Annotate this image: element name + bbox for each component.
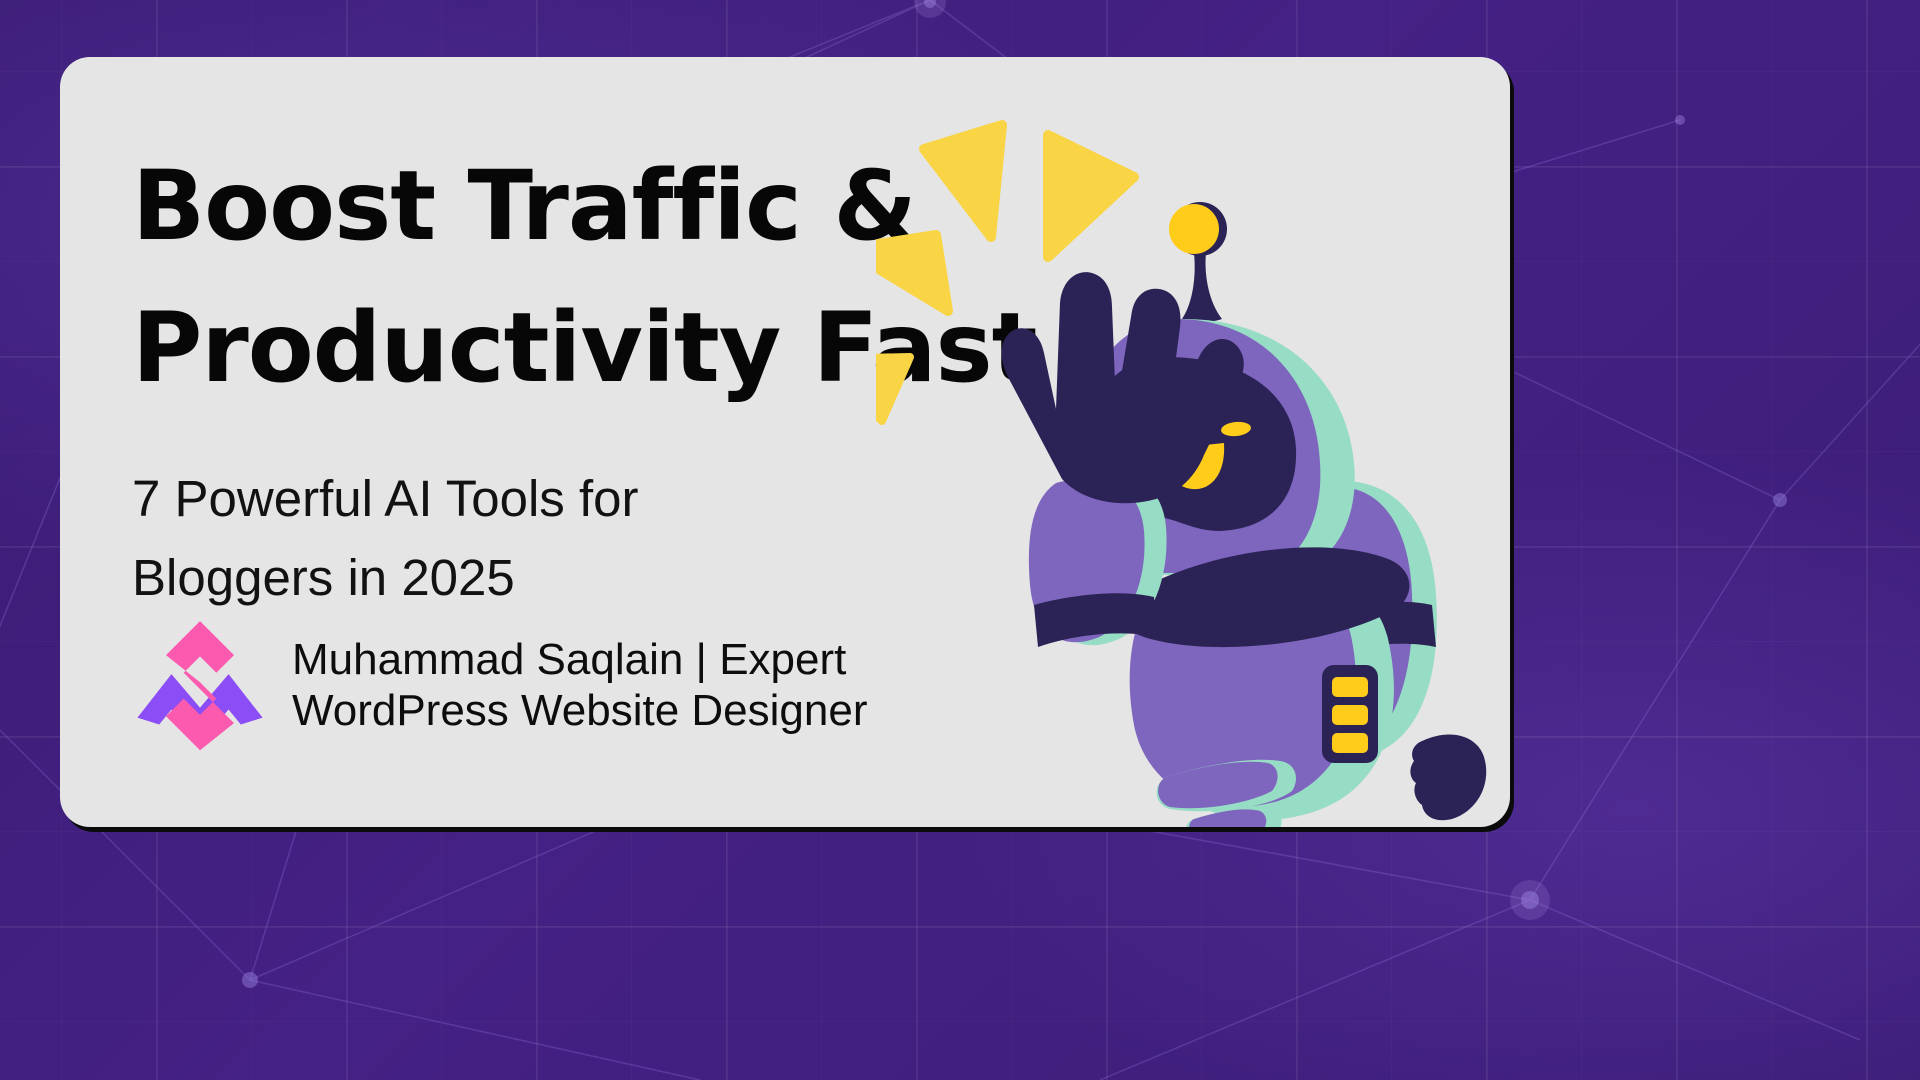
robot-foot: [1410, 734, 1486, 820]
robot-motion-dashes: [1157, 760, 1296, 827]
antenna-bulb-icon: [1169, 204, 1219, 254]
robot-chest-panel: [1322, 665, 1378, 763]
headline-line-2: Productivity Fast: [132, 277, 1082, 419]
antenna-stalk: [1182, 253, 1222, 322]
content-card: Boost Traffic & Productivity Fast 7 Powe…: [60, 57, 1510, 827]
brand-logo-icon: [132, 617, 268, 753]
subheadline-line-2: Bloggers in 2025: [132, 549, 515, 606]
byline-line-1: Muhammad Saqlain | Expert: [292, 634, 867, 685]
robot-torso: [1122, 547, 1410, 820]
page-subtitle: 7 Powerful AI Tools for Bloggers in 2025: [132, 459, 1082, 617]
subheadline-line-1: 7 Powerful AI Tools for: [132, 470, 639, 527]
robot-head: [1068, 202, 1355, 575]
antenna-bulb-shadow: [1173, 202, 1227, 256]
byline-text: Muhammad Saqlain | Expert WordPress Webs…: [292, 634, 867, 737]
byline: Muhammad Saqlain | Expert WordPress Webs…: [132, 617, 867, 753]
robot-shoulder-bar: [1122, 547, 1410, 647]
byline-line-2: WordPress Website Designer: [292, 685, 867, 736]
robot-eye-left: [1119, 438, 1148, 453]
robot-smile: [1167, 443, 1224, 489]
headline-line-1: Boost Traffic &: [132, 150, 916, 262]
robot-face-plate: [1075, 357, 1296, 531]
text-column: Boost Traffic & Productivity Fast 7 Powe…: [132, 135, 1082, 617]
poster-canvas: Boost Traffic & Productivity Fast 7 Powe…: [0, 0, 1920, 1080]
robot-eye-right: [1220, 420, 1251, 437]
robot-leg: [1303, 481, 1437, 758]
page-title: Boost Traffic & Productivity Fast: [132, 135, 1082, 419]
